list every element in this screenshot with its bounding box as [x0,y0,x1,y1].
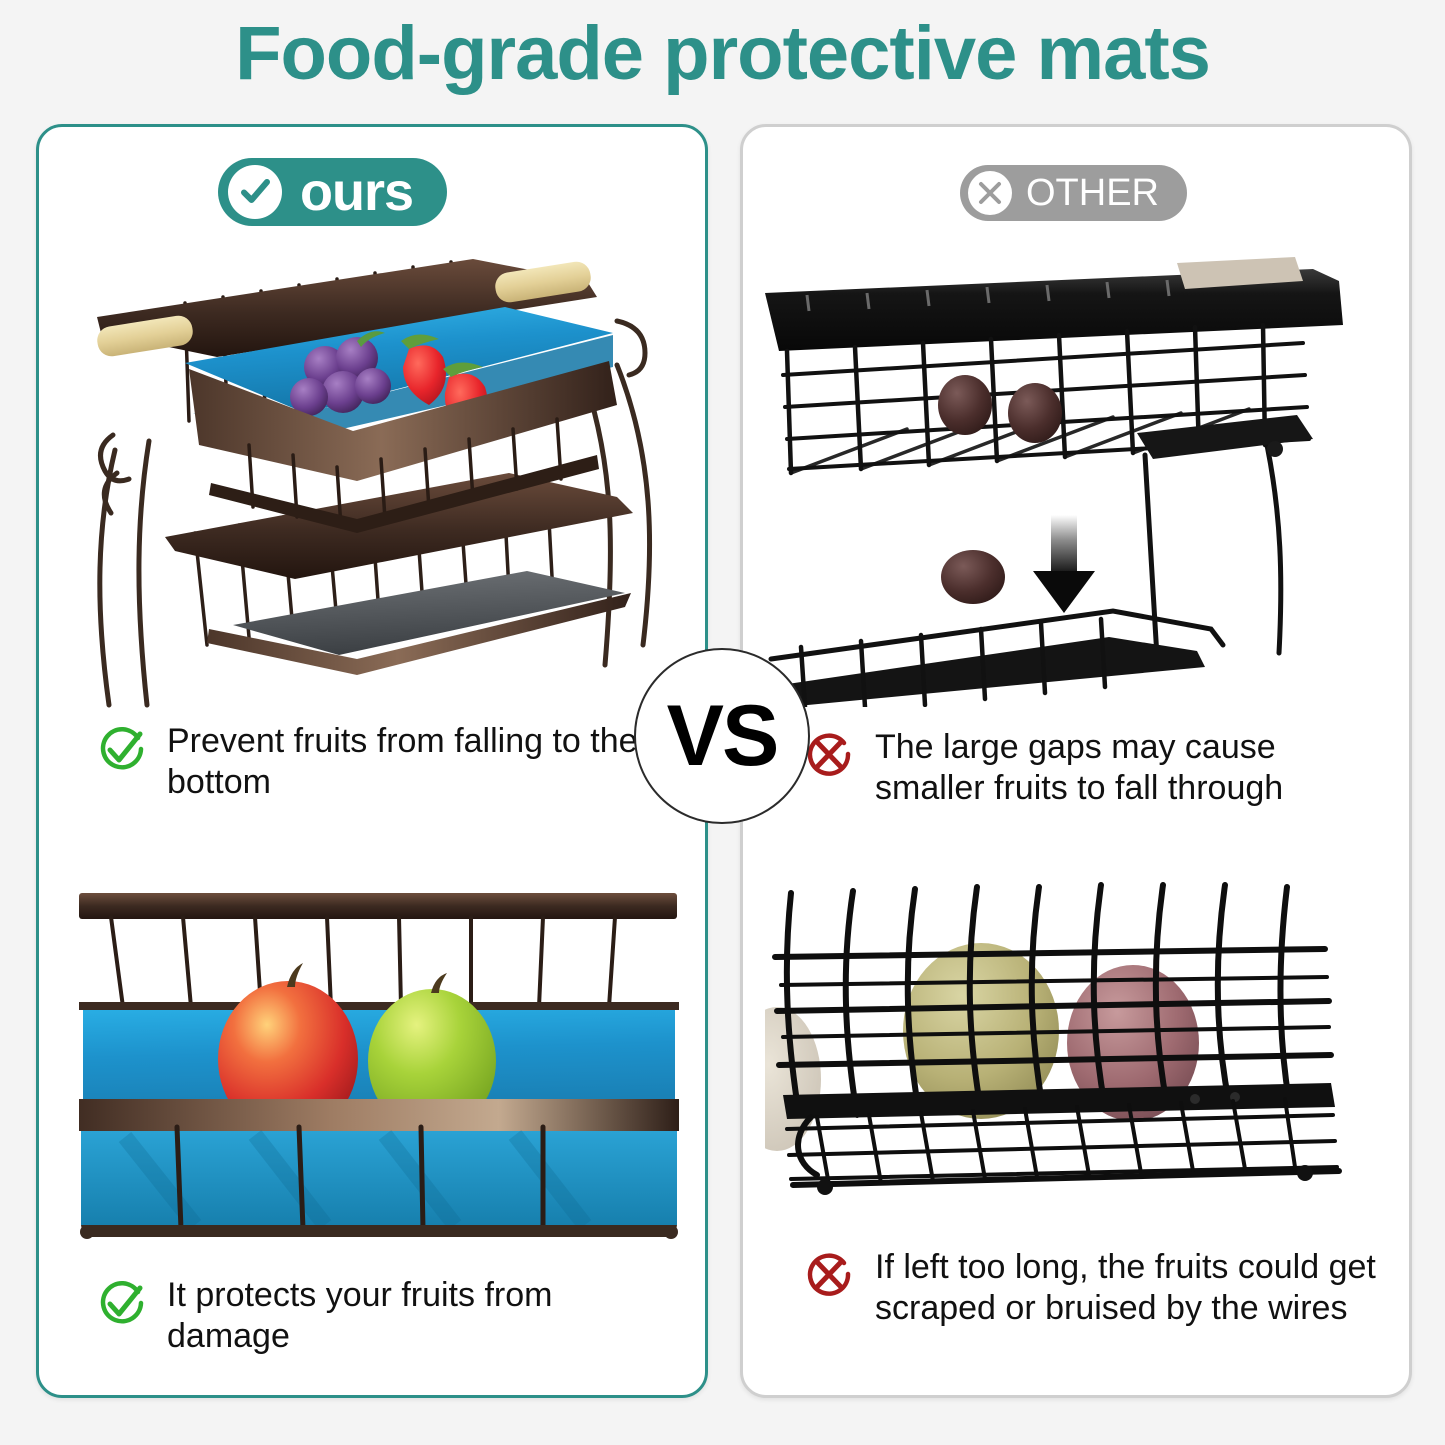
caption-other-bottom: If left too long, the fruits could get s… [803,1247,1393,1329]
badge-ours: ours [218,158,447,226]
caption-other-bottom-text: If left too long, the fruits could get s… [875,1247,1393,1329]
page-title: Food-grade protective mats [0,8,1445,100]
caption-other-top-text: The large gaps may cause smaller fruits … [875,727,1393,809]
caption-ours-bottom: It protects your fruits from damage [95,1275,655,1357]
infographic-root: Food-grade protective mats ours [0,0,1445,1445]
product-image-other-top [757,247,1401,707]
grape-in-basket [1008,383,1062,443]
caption-ours-bottom-text: It protects your fruits from damage [167,1275,655,1357]
check-circle-icon [228,165,282,219]
panel-ours: ours [36,124,708,1398]
badge-ours-label: ours [300,165,413,219]
falling-grape [941,550,1005,604]
red-x-circle-icon [803,729,855,786]
badge-other: OTHER [960,165,1187,221]
caption-other-top: The large gaps may cause smaller fruits … [803,727,1393,809]
panel-other: OTHER [740,124,1412,1398]
product-image-ours-top [57,245,697,715]
x-circle-icon [968,171,1012,215]
caption-ours-top: Prevent fruits from falling to the botto… [95,721,675,803]
vs-badge: VS [634,648,810,824]
caption-ours-top-text: Prevent fruits from falling to the botto… [167,721,675,803]
product-image-other-bottom [765,879,1395,1235]
green-check-circle-icon [95,1277,147,1334]
grape-in-basket [938,375,992,435]
red-x-circle-icon [803,1249,855,1306]
down-arrow-icon [1033,515,1095,613]
badge-other-label: OTHER [1026,174,1159,212]
product-image-ours-bottom [65,887,693,1259]
green-check-circle-icon [95,723,147,780]
